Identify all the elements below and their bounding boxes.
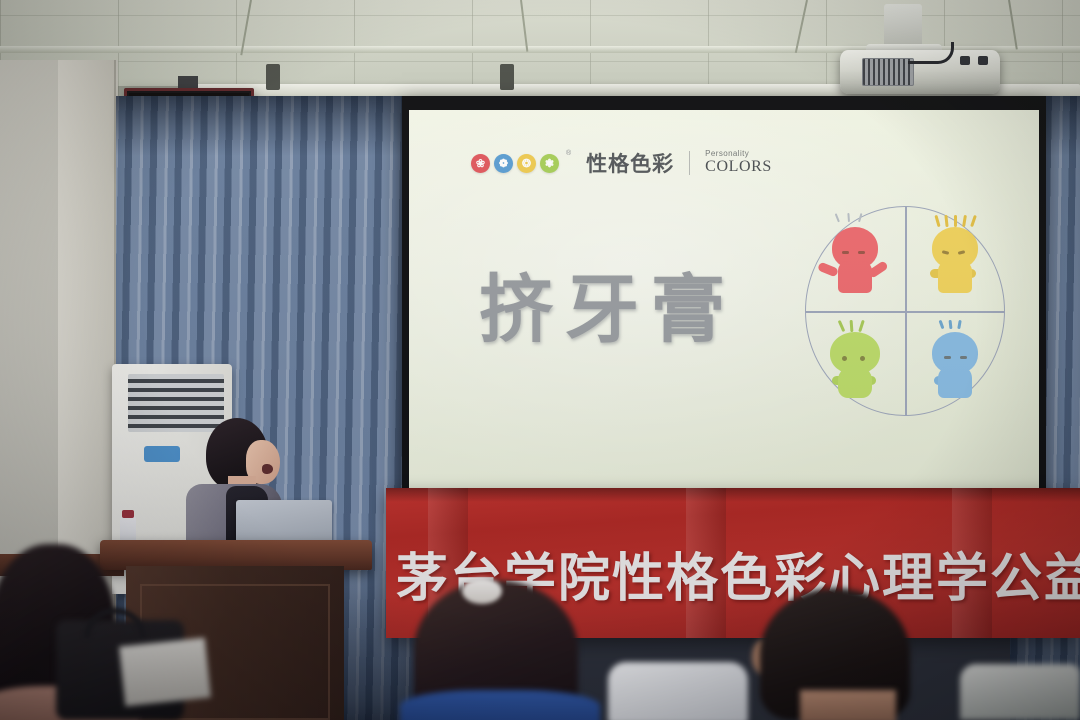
green-character bbox=[824, 326, 886, 402]
blue-dot-icon: ❁ bbox=[494, 154, 513, 173]
anger-mark-icon bbox=[858, 213, 862, 222]
spike-icon bbox=[934, 214, 940, 226]
audience-man-neck bbox=[800, 690, 896, 720]
logo-divider bbox=[689, 151, 690, 175]
character-eye bbox=[942, 250, 950, 255]
red-dot-icon: ❀ bbox=[471, 154, 490, 173]
trademark-icon: ® bbox=[566, 150, 571, 157]
projector-knob bbox=[960, 56, 970, 65]
character-eye bbox=[842, 251, 849, 254]
character-eye bbox=[842, 356, 847, 361]
photo-scene: ❀ ❁ ❂ ❃ ® 性格色彩 Personality COLORS 挤牙膏 bbox=[0, 0, 1080, 720]
air-conditioner-logo bbox=[144, 446, 180, 462]
presenter-mouth bbox=[262, 464, 273, 474]
red-character bbox=[824, 221, 886, 297]
audience-far-right bbox=[960, 664, 1080, 720]
roller-bracket bbox=[500, 64, 514, 90]
slide-logo: ❀ ❁ ❂ ❃ ® 性格色彩 Personality COLORS bbox=[471, 148, 772, 178]
projector-vent-grille bbox=[862, 58, 914, 86]
air-conditioner-vent bbox=[128, 374, 224, 432]
spike-icon bbox=[962, 214, 967, 226]
logo-english-top: Personality bbox=[705, 150, 772, 158]
quadrant-top-left bbox=[805, 206, 905, 311]
hair-strand-icon bbox=[949, 319, 953, 328]
anger-mark-icon bbox=[847, 212, 850, 221]
character-arm bbox=[817, 261, 839, 277]
hair-tie bbox=[462, 578, 502, 604]
hair-tuft-icon bbox=[838, 319, 846, 331]
hair-tuft-icon bbox=[858, 319, 865, 331]
logo-english-bottom: COLORS bbox=[705, 159, 772, 176]
quadrant-bottom-right bbox=[905, 311, 1005, 416]
quadrant-bottom-left bbox=[805, 311, 905, 416]
curtain-shading bbox=[116, 96, 422, 156]
logo-english-text: Personality COLORS bbox=[705, 150, 772, 175]
logo-color-dots: ❀ ❁ ❂ ❃ bbox=[471, 154, 559, 173]
character-body bbox=[838, 366, 872, 398]
slide-headline: 挤牙膏 bbox=[479, 250, 737, 357]
bottle-cap bbox=[122, 510, 134, 518]
character-body bbox=[838, 261, 872, 293]
spike-icon bbox=[954, 215, 957, 227]
spike-icon bbox=[944, 214, 948, 226]
yellow-dot-icon: ❂ bbox=[517, 154, 536, 173]
audience-papers bbox=[119, 638, 211, 707]
character-eye bbox=[960, 356, 967, 359]
character-eye bbox=[958, 250, 966, 255]
character-body bbox=[938, 261, 972, 293]
white-object-foreground bbox=[608, 662, 748, 720]
logo-chinese-text: 性格色彩 bbox=[586, 148, 674, 178]
anger-mark-icon bbox=[835, 213, 840, 222]
character-eye bbox=[944, 356, 951, 359]
audience-girl-shoulder bbox=[400, 690, 600, 720]
projection-screen: ❀ ❁ ❂ ❃ ® 性格色彩 Personality COLORS 挤牙膏 bbox=[409, 110, 1039, 496]
blue-character bbox=[924, 326, 986, 402]
hair-strand-icon bbox=[939, 319, 945, 328]
character-eye bbox=[858, 251, 865, 254]
hair-strand-icon bbox=[957, 319, 962, 328]
character-body bbox=[938, 366, 972, 398]
green-dot-icon: ❃ bbox=[540, 154, 559, 173]
character-eye bbox=[860, 356, 865, 361]
hair-tuft-icon bbox=[850, 319, 854, 331]
spike-icon bbox=[970, 214, 977, 226]
projector-knob bbox=[978, 56, 988, 65]
projector-cable bbox=[908, 42, 954, 64]
personality-quadrant-diagram bbox=[805, 206, 1005, 416]
quadrant-top-right bbox=[905, 206, 1005, 311]
yellow-character bbox=[924, 221, 986, 297]
roller-bracket bbox=[266, 64, 280, 90]
